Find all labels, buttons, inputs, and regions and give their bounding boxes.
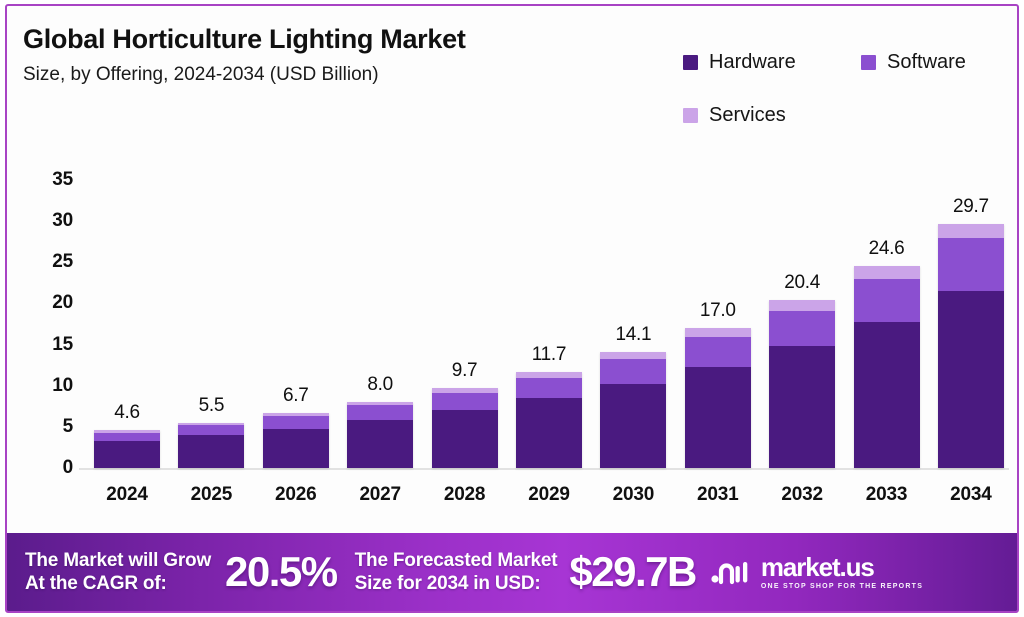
bar-segment-hardware[interactable] xyxy=(600,384,666,468)
bar-segment-hardware[interactable] xyxy=(94,441,160,468)
bar-segment-software[interactable] xyxy=(94,433,160,441)
y-axis: 05101520253035 xyxy=(31,146,73,471)
bar-value-label: 5.5 xyxy=(169,395,253,417)
cagr-label-line2: At the CAGR of: xyxy=(25,572,211,595)
cagr-label-line1: The Market will Grow xyxy=(25,549,211,572)
y-axis-tick: 10 xyxy=(52,375,73,397)
stacked-bar[interactable] xyxy=(263,413,329,468)
square-swatch-icon xyxy=(683,55,698,70)
chart-frame: Global Horticulture Lighting Market Size… xyxy=(5,4,1019,613)
bar-column[interactable]: 24.6 xyxy=(845,146,929,468)
chart-header: Global Horticulture Lighting Market Size… xyxy=(23,24,466,86)
x-axis-label: 2024 xyxy=(85,484,169,506)
stacked-bar[interactable] xyxy=(685,328,751,468)
bar-segment-hardware[interactable] xyxy=(516,398,582,468)
legend-item-services[interactable]: Services xyxy=(683,104,786,127)
forecast-size-value: $29.7B xyxy=(569,548,695,596)
bar-value-label: 11.7 xyxy=(507,344,591,366)
y-axis-tick: 35 xyxy=(52,169,73,191)
legend-label-hardware: Hardware xyxy=(709,51,796,74)
stacked-bar[interactable] xyxy=(432,388,498,468)
page-title: Global Horticulture Lighting Market xyxy=(23,24,466,55)
bar-column[interactable]: 14.1 xyxy=(591,146,675,468)
legend-item-software[interactable]: Software xyxy=(861,51,966,74)
stacked-bar[interactable] xyxy=(178,423,244,468)
x-axis-label: 2026 xyxy=(254,484,338,506)
y-axis-tick: 25 xyxy=(52,251,73,273)
stacked-bar[interactable] xyxy=(600,352,666,468)
bar-segment-software[interactable] xyxy=(178,425,244,435)
legend-row-secondary: Services xyxy=(683,104,1003,127)
summary-banner: The Market will Grow At the CAGR of: 20.… xyxy=(7,533,1017,611)
bar-segment-hardware[interactable] xyxy=(938,291,1004,468)
bar-value-label: 6.7 xyxy=(254,385,338,407)
legend-row-primary: Hardware Software xyxy=(683,51,1003,74)
bar-value-label: 9.7 xyxy=(423,360,507,382)
x-axis-label: 2029 xyxy=(507,484,591,506)
forecast-size-label-line1: The Forecasted Market xyxy=(355,549,558,572)
y-axis-tick: 15 xyxy=(52,334,73,356)
y-axis-tick: 5 xyxy=(63,416,73,438)
stacked-bar[interactable] xyxy=(854,266,920,468)
chart-legend: Hardware Software Services xyxy=(683,51,1003,127)
bar-segment-software[interactable] xyxy=(769,311,835,346)
y-axis-tick: 30 xyxy=(52,210,73,232)
y-axis-tick: 0 xyxy=(63,457,73,479)
market-us-logo[interactable]: market.us ONE STOP SHOP FOR THE REPORTS xyxy=(710,554,923,590)
bar-segment-services[interactable] xyxy=(769,300,835,311)
bar-column[interactable]: 9.7 xyxy=(423,146,507,468)
chart-subtitle: Size, by Offering, 2024-2034 (USD Billio… xyxy=(23,64,466,86)
bar-segment-hardware[interactable] xyxy=(854,322,920,468)
bar-value-label: 14.1 xyxy=(591,324,675,346)
bar-value-label: 8.0 xyxy=(338,374,422,396)
x-axis-label: 2033 xyxy=(845,484,929,506)
legend-item-hardware[interactable]: Hardware xyxy=(683,51,861,74)
bar-segment-hardware[interactable] xyxy=(178,435,244,468)
cagr-label: The Market will Grow At the CAGR of: xyxy=(25,549,211,595)
square-swatch-icon xyxy=(861,55,876,70)
bar-column[interactable]: 5.5 xyxy=(169,146,253,468)
bar-segment-hardware[interactable] xyxy=(263,429,329,468)
bar-segment-software[interactable] xyxy=(600,359,666,384)
bar-column[interactable]: 11.7 xyxy=(507,146,591,468)
logo-tagline: ONE STOP SHOP FOR THE REPORTS xyxy=(761,583,923,590)
cagr-value: 20.5% xyxy=(225,548,337,596)
bar-group: 4.65.56.78.09.711.714.117.020.424.629.7 xyxy=(85,146,1013,468)
stacked-bar[interactable] xyxy=(516,372,582,468)
bar-column[interactable]: 17.0 xyxy=(676,146,760,468)
bar-segment-services[interactable] xyxy=(600,352,666,359)
bar-segment-services[interactable] xyxy=(854,266,920,279)
forecast-size-label-line2: Size for 2034 in USD: xyxy=(355,572,558,595)
x-axis-label: 2031 xyxy=(676,484,760,506)
x-axis: 2024202520262027202820292030203120322033… xyxy=(85,484,1013,506)
bar-segment-software[interactable] xyxy=(685,337,751,367)
bar-segment-software[interactable] xyxy=(263,416,329,428)
plot-area: 05101520253035 4.65.56.78.09.711.714.117… xyxy=(7,146,1017,476)
bar-segment-hardware[interactable] xyxy=(432,410,498,468)
forecast-size-label: The Forecasted Market Size for 2034 in U… xyxy=(355,549,558,595)
x-axis-baseline xyxy=(79,468,1009,470)
bar-column[interactable]: 8.0 xyxy=(338,146,422,468)
bar-value-label: 17.0 xyxy=(676,300,760,322)
x-axis-label: 2030 xyxy=(591,484,675,506)
market-us-bars-logo-icon xyxy=(710,557,754,587)
bar-segment-services[interactable] xyxy=(685,328,751,337)
x-axis-label: 2027 xyxy=(338,484,422,506)
x-axis-label: 2032 xyxy=(760,484,844,506)
bar-segment-software[interactable] xyxy=(347,405,413,420)
x-axis-label: 2034 xyxy=(929,484,1013,506)
stacked-bar[interactable] xyxy=(938,224,1004,468)
bar-segment-hardware[interactable] xyxy=(685,367,751,468)
logo-wordmark: market.us xyxy=(761,554,874,580)
bar-segment-software[interactable] xyxy=(432,393,498,410)
x-axis-label: 2028 xyxy=(423,484,507,506)
bar-value-label: 24.6 xyxy=(845,238,929,260)
bar-segment-services[interactable] xyxy=(938,224,1004,238)
stacked-bar[interactable] xyxy=(94,430,160,468)
legend-label-services: Services xyxy=(709,104,786,127)
square-swatch-icon xyxy=(683,108,698,123)
bar-segment-software[interactable] xyxy=(854,279,920,322)
bar-column[interactable]: 20.4 xyxy=(760,146,844,468)
bar-value-label: 20.4 xyxy=(760,272,844,294)
stacked-bar[interactable] xyxy=(769,300,835,468)
bar-segment-software[interactable] xyxy=(938,238,1004,291)
y-axis-tick: 20 xyxy=(52,292,73,314)
bar-value-label: 29.7 xyxy=(929,196,1013,218)
bar-segment-hardware[interactable] xyxy=(347,420,413,468)
infographic-root: Global Horticulture Lighting Market Size… xyxy=(0,0,1024,617)
legend-label-software: Software xyxy=(887,51,966,74)
stacked-bar[interactable] xyxy=(347,402,413,468)
bar-column[interactable]: 29.7 xyxy=(929,146,1013,468)
bar-value-label: 4.6 xyxy=(85,402,169,424)
bar-segment-hardware[interactable] xyxy=(769,346,835,468)
bar-column[interactable]: 4.6 xyxy=(85,146,169,468)
bar-column[interactable]: 6.7 xyxy=(254,146,338,468)
x-axis-label: 2025 xyxy=(169,484,253,506)
logo-text: market.us ONE STOP SHOP FOR THE REPORTS xyxy=(761,554,923,590)
bar-segment-software[interactable] xyxy=(516,378,582,399)
